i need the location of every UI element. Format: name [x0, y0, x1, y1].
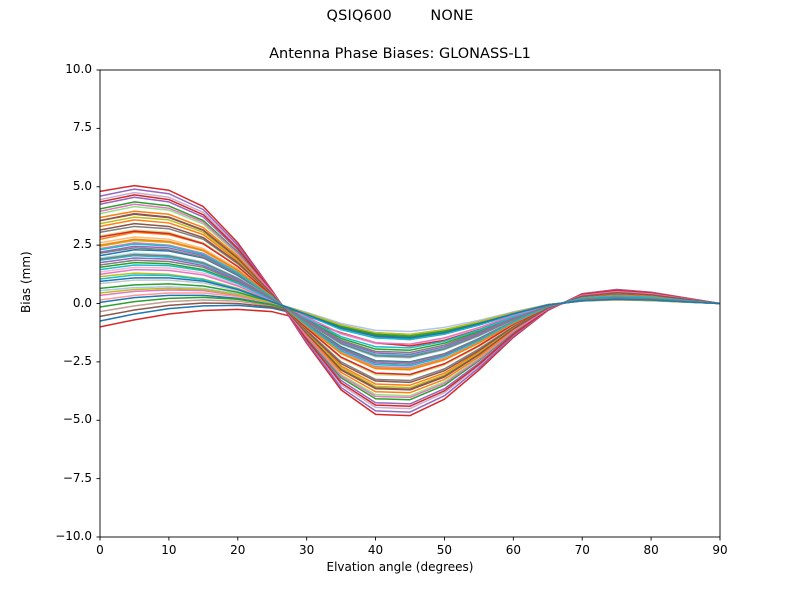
series-group — [100, 186, 720, 416]
series-line — [100, 256, 720, 356]
matplotlib-figure: QSIQ600 NONE Antenna Phase Biases: GLONA… — [0, 0, 800, 600]
y-tick-label: −10.0 — [40, 529, 92, 543]
x-tick-label: 70 — [552, 543, 612, 557]
series-line — [100, 278, 720, 338]
series-line — [100, 273, 720, 338]
x-tick-label: 60 — [483, 543, 543, 557]
y-tick-label: −2.5 — [40, 354, 92, 368]
y-tick-label: −5.0 — [40, 412, 92, 426]
x-tick-label: 80 — [621, 543, 681, 557]
series-line — [100, 220, 720, 385]
chart-plot-area — [0, 0, 800, 600]
series-line — [100, 299, 720, 339]
y-tick-label: 7.5 — [40, 120, 92, 134]
x-tick-label: 10 — [139, 543, 199, 557]
x-tick-label: 0 — [70, 543, 130, 557]
x-tick-label: 20 — [208, 543, 268, 557]
y-tick-label: 5.0 — [40, 179, 92, 193]
y-tick-label: −7.5 — [40, 471, 92, 485]
y-tick-label: 10.0 — [40, 62, 92, 76]
series-line — [100, 299, 720, 338]
y-tick-label: 0.0 — [40, 296, 92, 310]
y-axis-label: Bias (mm) — [19, 293, 33, 313]
x-axis-label: Elvation angle (degrees) — [0, 560, 800, 574]
x-tick-label: 90 — [690, 543, 750, 557]
y-tick-label: 2.5 — [40, 237, 92, 251]
x-tick-label: 30 — [277, 543, 337, 557]
x-tick-label: 50 — [414, 543, 474, 557]
x-tick-label: 40 — [346, 543, 406, 557]
